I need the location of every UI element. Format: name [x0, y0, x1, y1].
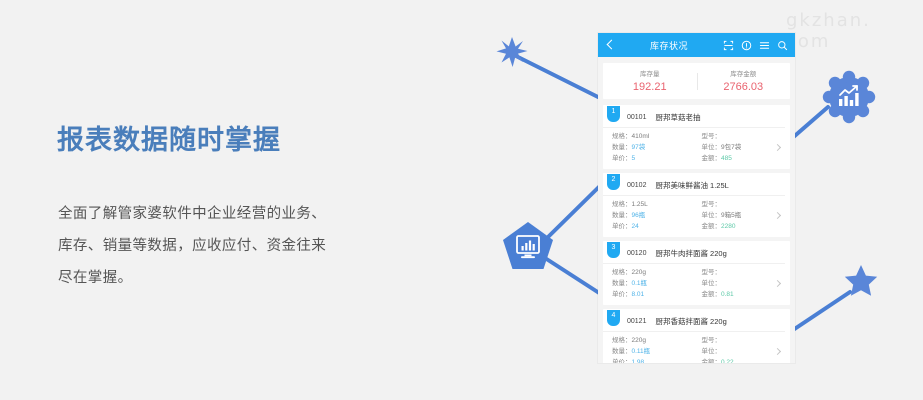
item-spec: 规格：410ml: [612, 131, 696, 142]
slide-canvas: gkzhan. com 报表数据随时掌握 全面了解管家婆软件中企业经营的业务、 …: [0, 0, 923, 400]
row-col-right: 型号：单位：9箱5瓶金额：2280: [696, 199, 786, 232]
item-price: 单价：5: [612, 153, 696, 164]
label-spec: 规格：: [612, 269, 632, 276]
label-model: 型号：: [702, 133, 722, 140]
item-unit: 单位：: [702, 278, 786, 289]
label-model: 型号：: [702, 337, 722, 344]
row-header: 200102厨邦美味鲜酱油 1.25L: [603, 178, 785, 196]
item-price: 单价：1.98: [612, 357, 696, 363]
chart-badge-icon: [823, 71, 875, 123]
label-amount: 金额：: [702, 291, 722, 298]
description-line-1: 全面了解管家婆软件中企业经营的业务、: [58, 198, 378, 230]
label-price: 单价：: [612, 223, 632, 230]
table-row[interactable]: 400121厨邦香菇拌面酱 220g规格：220g数量：0.11瓶单价：1.98…: [603, 309, 790, 363]
item-spec: 规格：220g: [612, 335, 696, 346]
table-row[interactable]: 200102厨邦美味鲜酱油 1.25L规格：1.25L数量：96瓶单价：24型号…: [603, 173, 790, 237]
label-qty: 数量：: [612, 144, 632, 151]
item-amount: 金额：2280: [702, 221, 786, 232]
star-icon: [845, 265, 877, 296]
description-text: 全面了解管家婆软件中企业经营的业务、 库存、销量等数据，应收应付、资金往来 尽在…: [58, 198, 378, 294]
item-name: 厨邦美味鲜酱油 1.25L: [655, 180, 728, 191]
item-qty: 数量：96瓶: [612, 210, 696, 221]
label-amount: 金额：: [702, 155, 722, 162]
summary-label: 库存金额: [697, 69, 791, 80]
scan-icon[interactable]: [723, 40, 734, 51]
item-amount: 金额：485: [702, 153, 786, 164]
summary-cell-amount: 库存金额 2766.03: [697, 69, 791, 94]
search-icon[interactable]: [777, 40, 788, 51]
label-price: 单价：: [612, 291, 632, 298]
summary-label: 库存量: [603, 69, 697, 80]
label-price: 单价：: [612, 359, 632, 363]
label-spec: 规格：: [612, 133, 632, 140]
item-code: 00121: [627, 318, 646, 325]
sparkle-burst-icon: [497, 37, 528, 67]
summary-cell-stock: 库存量 192.21: [603, 69, 697, 94]
item-model: 型号：: [702, 267, 786, 278]
item-price: 单价：24: [612, 221, 696, 232]
row-index-badge: 2: [607, 174, 620, 190]
list-menu-icon[interactable]: [759, 40, 770, 51]
page-title: 报表数据随时掌握: [57, 118, 281, 157]
label-model: 型号：: [702, 201, 722, 208]
chevron-right-icon[interactable]: [775, 145, 781, 151]
item-spec: 规格：1.25L: [612, 199, 696, 210]
item-name: 厨邦草菇老抽: [655, 112, 700, 123]
row-index-badge: 4: [607, 310, 620, 326]
phone-screen: 库存状况 库存量 192.21: [598, 33, 795, 363]
row-header: 100101厨邦草菇老抽: [603, 110, 785, 128]
row-body: 规格：1.25L数量：96瓶单价：24型号：单位：9箱5瓶金额：2280: [603, 199, 785, 232]
row-body: 规格：220g数量：0.11瓶单价：1.98型号：单位：金额：0.22: [603, 335, 785, 363]
label-price: 单价：: [612, 155, 632, 162]
row-header: 400121厨邦香菇拌面酱 220g: [603, 314, 785, 332]
item-qty: 数量：97袋: [612, 142, 696, 153]
item-name: 厨邦香菇拌面酱 220g: [655, 316, 726, 327]
description-line-2: 库存、销量等数据，应收应付、资金往来: [58, 230, 378, 262]
label-unit: 单位：: [702, 280, 722, 287]
row-col-left: 规格：410ml数量：97袋单价：5: [612, 131, 696, 164]
info-circle-icon[interactable]: [741, 40, 752, 51]
header-action-icons: [723, 40, 788, 51]
row-header: 300120厨邦牛肉拌面酱 220g: [603, 246, 785, 264]
row-col-left: 规格：220g数量：0.11瓶单价：1.98: [612, 335, 696, 363]
item-amount: 金额：0.81: [702, 289, 786, 300]
label-qty: 数量：: [612, 280, 632, 287]
label-unit: 单位：: [702, 212, 722, 219]
chevron-left-icon[interactable]: [605, 40, 616, 51]
chevron-right-icon[interactable]: [775, 281, 781, 287]
item-amount: 金额：0.22: [702, 357, 786, 363]
row-col-left: 规格：1.25L数量：96瓶单价：24: [612, 199, 696, 232]
item-code: 00120: [627, 250, 646, 257]
item-model: 型号：: [702, 335, 786, 346]
item-qty: 数量：0.1瓶: [612, 278, 696, 289]
row-index-badge: 3: [607, 242, 620, 258]
row-index-badge: 1: [607, 106, 620, 122]
item-model: 型号：: [702, 199, 786, 210]
inventory-list: 100101厨邦草菇老抽规格：410ml数量：97袋单价：5型号：单位：9包7袋…: [603, 105, 790, 363]
label-unit: 单位：: [702, 144, 722, 151]
item-code: 00102: [627, 182, 646, 189]
row-col-left: 规格：220g数量：0.1瓶单价：8.01: [612, 267, 696, 300]
app-header: 库存状况: [598, 33, 795, 57]
summary-value: 2766.03: [697, 80, 791, 94]
chevron-right-icon[interactable]: [775, 349, 781, 355]
description-line-3: 尽在掌握。: [58, 262, 378, 294]
item-name: 厨邦牛肉拌面酱 220g: [655, 248, 726, 259]
item-spec: 规格：220g: [612, 267, 696, 278]
item-price: 单价：8.01: [612, 289, 696, 300]
chevron-right-icon[interactable]: [775, 213, 781, 219]
row-body: 规格：410ml数量：97袋单价：5型号：单位：9包7袋金额：485: [603, 131, 785, 164]
item-unit: 单位：9箱5瓶: [702, 210, 786, 221]
site-watermark: gkzhan. com: [786, 10, 923, 52]
row-col-right: 型号：单位：金额：0.22: [696, 335, 786, 363]
item-model: 型号：: [702, 131, 786, 142]
app-title: 库存状况: [650, 39, 688, 52]
table-row[interactable]: 300120厨邦牛肉拌面酱 220g规格：220g数量：0.1瓶单价：8.01型…: [603, 241, 790, 305]
summary-value: 192.21: [603, 80, 697, 94]
row-col-right: 型号：单位：9包7袋金额：485: [696, 131, 786, 164]
row-col-right: 型号：单位：金额：0.81: [696, 267, 786, 300]
label-qty: 数量：: [612, 348, 632, 355]
item-qty: 数量：0.11瓶: [612, 346, 696, 357]
row-body: 规格：220g数量：0.1瓶单价：8.01型号：单位：金额：0.81: [603, 267, 785, 300]
label-model: 型号：: [702, 269, 722, 276]
label-qty: 数量：: [612, 212, 632, 219]
label-amount: 金额：: [702, 223, 722, 230]
monitor-badge-icon: [503, 222, 553, 269]
label-unit: 单位：: [702, 348, 722, 355]
label-amount: 金额：: [702, 359, 722, 363]
item-code: 00101: [627, 114, 646, 121]
summary-card: 库存量 192.21 库存金额 2766.03: [603, 63, 790, 99]
item-unit: 单位：9包7袋: [702, 142, 786, 153]
label-spec: 规格：: [612, 337, 632, 344]
label-spec: 规格：: [612, 201, 632, 208]
table-row[interactable]: 100101厨邦草菇老抽规格：410ml数量：97袋单价：5型号：单位：9包7袋…: [603, 105, 790, 169]
item-unit: 单位：: [702, 346, 786, 357]
